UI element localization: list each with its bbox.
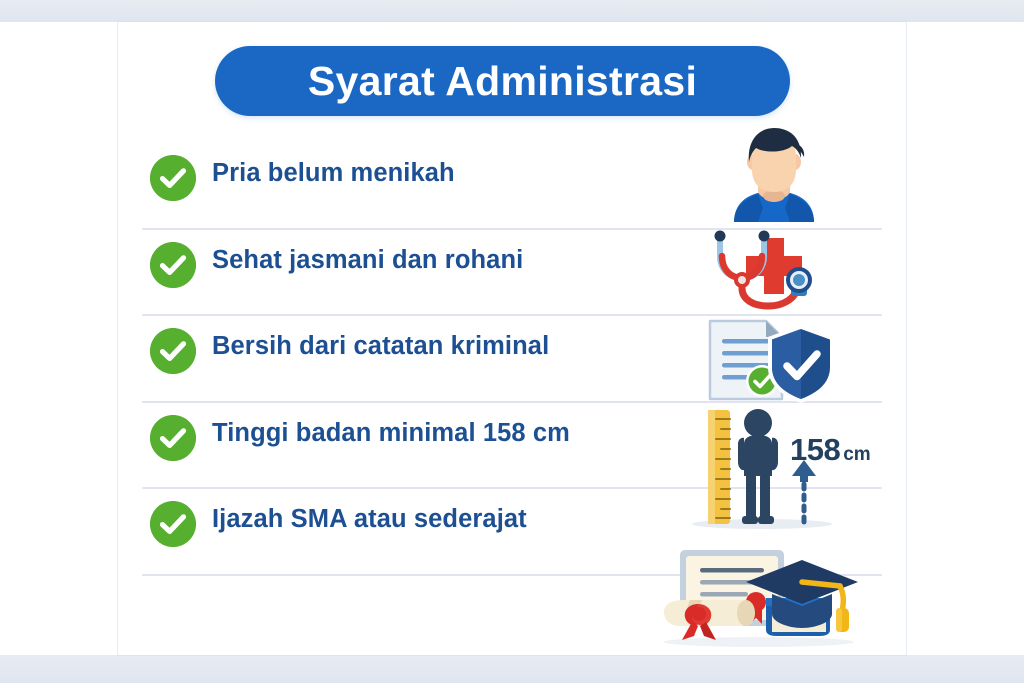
check-circle-icon [150,242,196,288]
height-ruler-person-illustration [692,404,868,534]
requirement-label: Ijazah SMA atau sederajat [212,505,527,534]
height-value: 158 [790,432,840,467]
document-shield-check-illustration [700,315,840,407]
check-circle-icon [150,328,196,374]
diploma-graduation-cap-illustration [654,538,864,648]
title-pill: Syarat Administrasi [215,46,790,116]
top-background-band [0,0,1024,22]
height-measure-label: 158cm [790,432,871,468]
stethoscope-medical-cross-illustration [692,222,832,310]
page-title: Syarat Administrasi [308,58,697,105]
height-unit: cm [843,444,870,465]
check-circle-icon [150,501,196,547]
requirement-label: Tinggi badan minimal 158 cm [212,419,570,448]
infographic-page: Syarat Administrasi Pria belum menikah S… [0,0,1024,683]
check-circle-icon [150,415,196,461]
requirement-label: Sehat jasmani dan rohani [212,246,523,275]
requirement-label: Pria belum menikah [212,159,455,188]
bottom-background-band [0,655,1024,683]
check-circle-icon [150,155,196,201]
requirement-label: Bersih dari catatan kriminal [212,332,549,361]
man-avatar-illustration [718,122,830,222]
